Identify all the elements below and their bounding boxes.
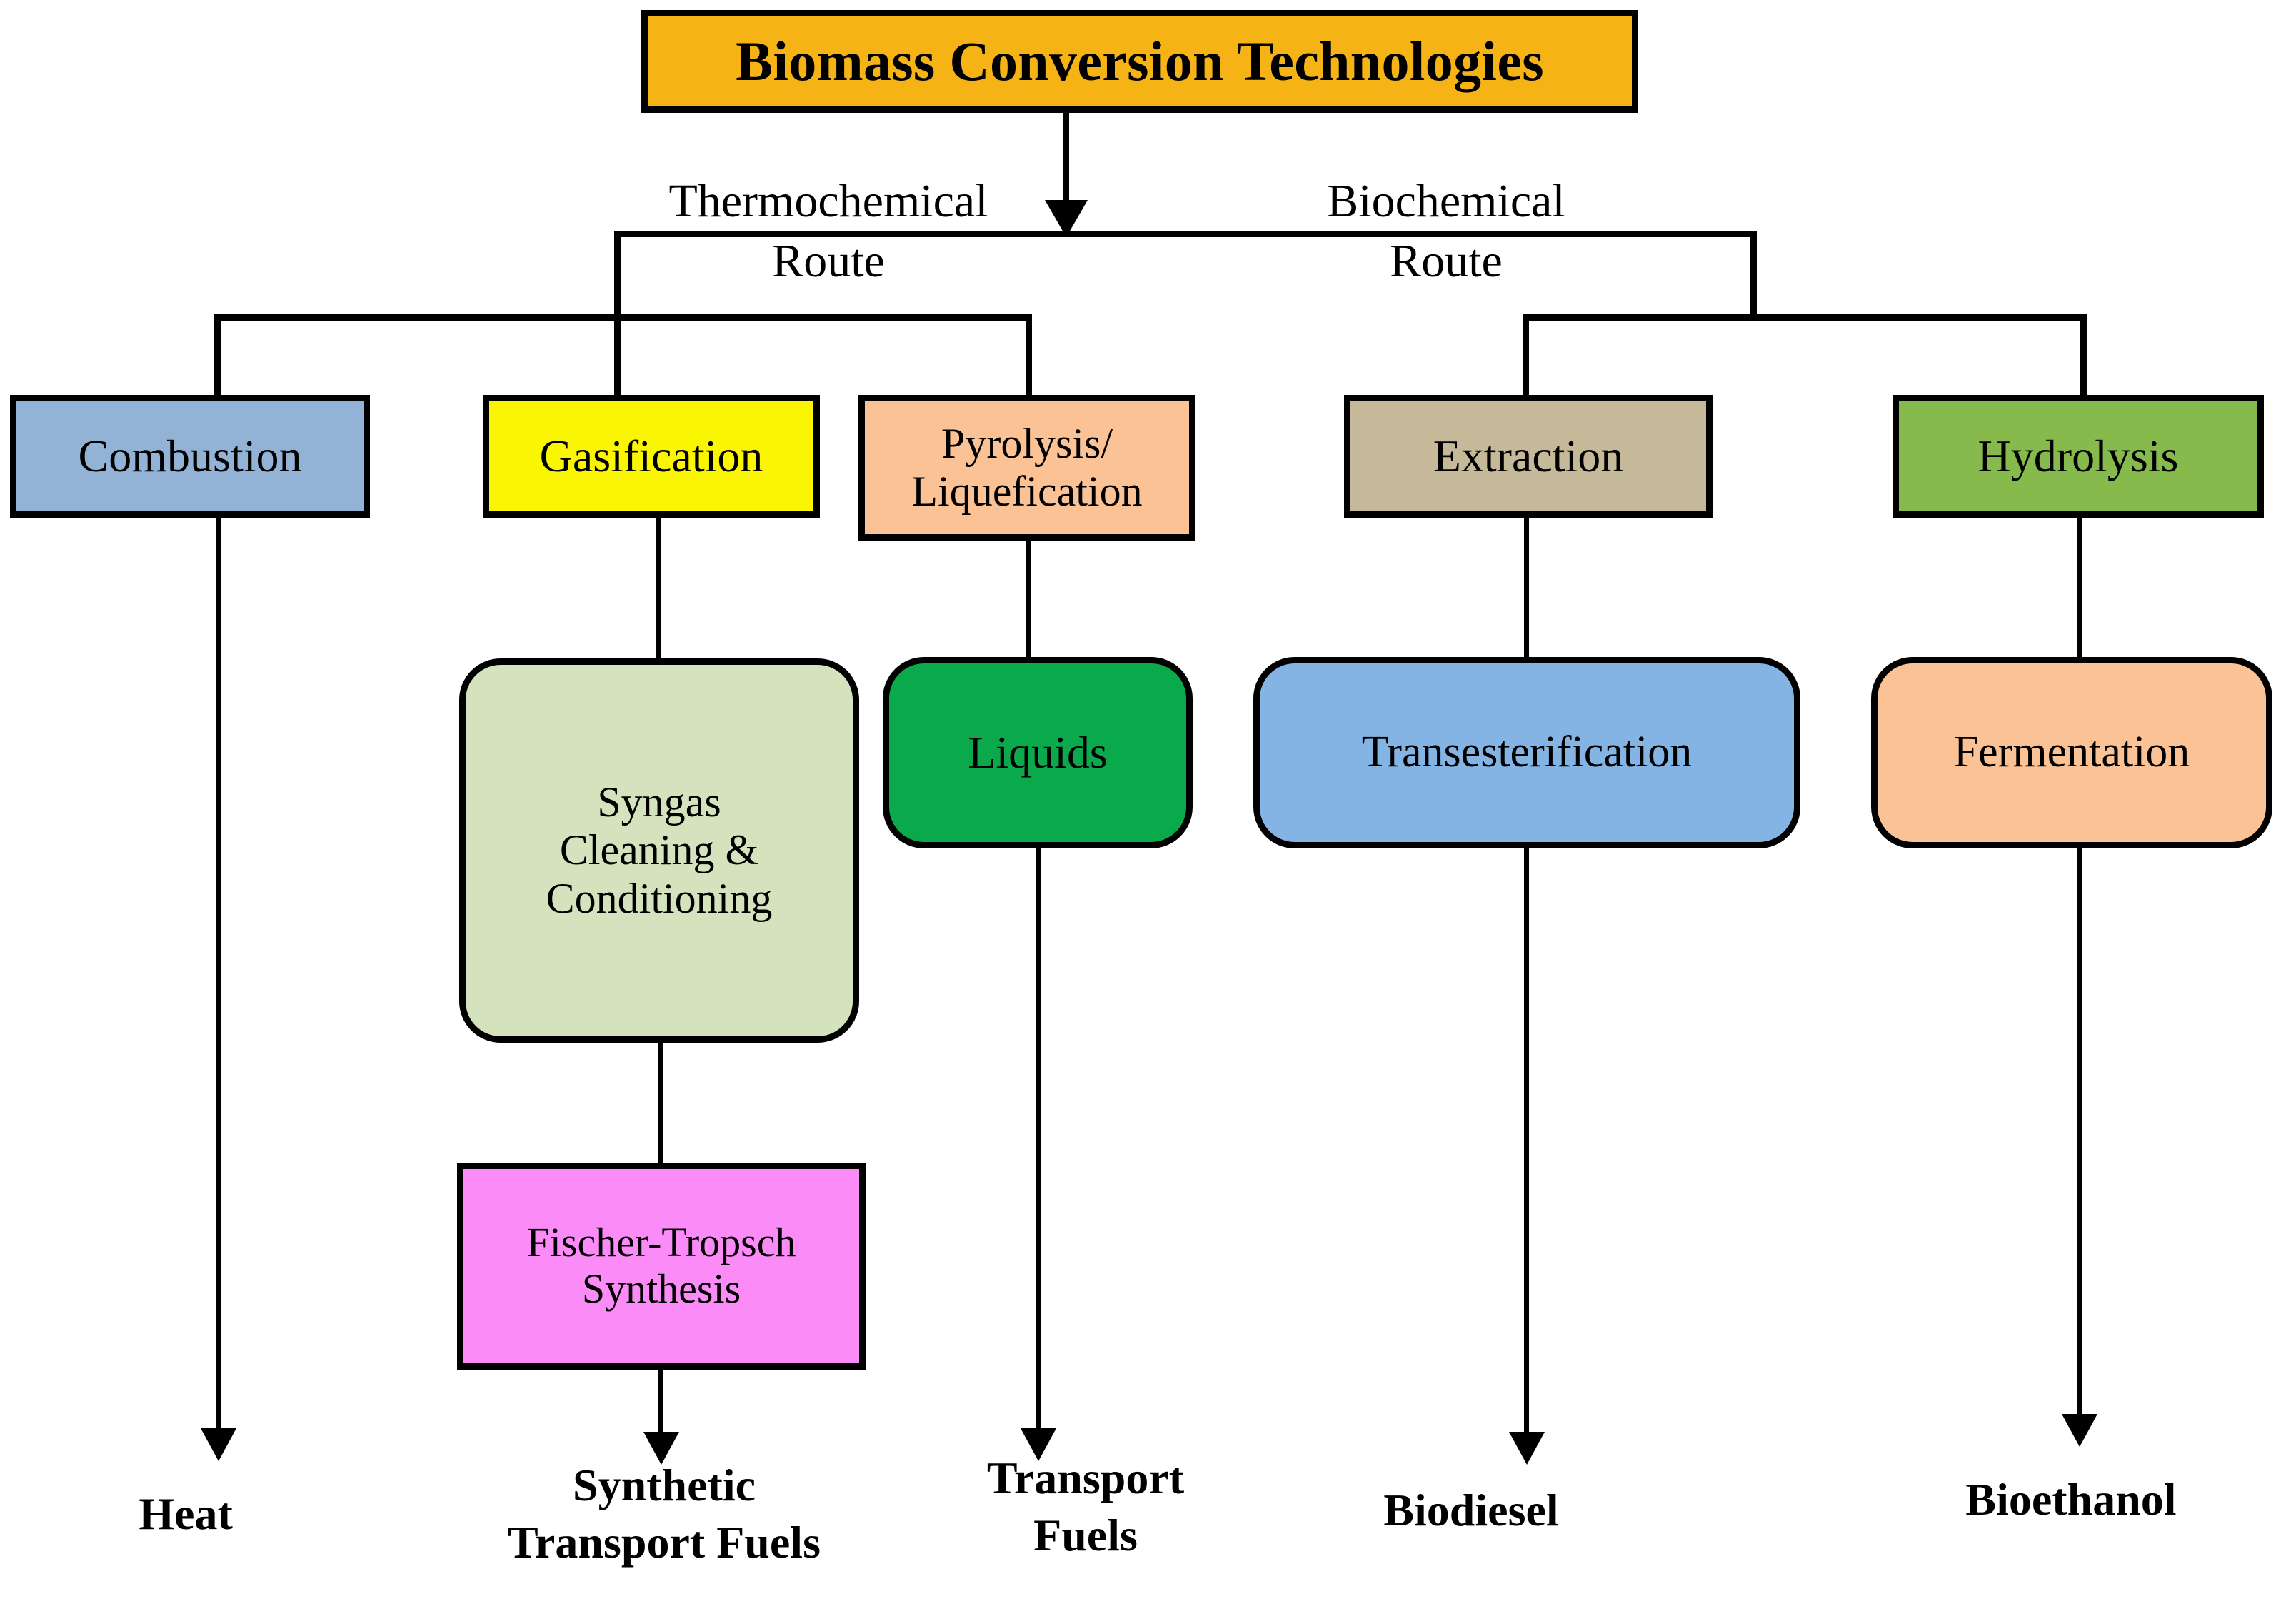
output-stf-line1: Synthetic <box>400 1457 928 1514</box>
arrowhead-bioethanol <box>2062 1414 2097 1447</box>
node-extraction-label: Extraction <box>1350 431 1706 482</box>
node-liquids-label: Liquids <box>889 727 1186 778</box>
node-hydrolysis-label: Hydrolysis <box>1899 431 2257 482</box>
node-pyrolysis-line2: Liquefication <box>911 468 1142 515</box>
connector-thermo-bar <box>214 314 1032 321</box>
node-liquids[interactable]: Liquids <box>883 657 1193 848</box>
connector-gasification-to-syngas <box>656 516 661 663</box>
output-label-transport-fuels: Transport Fuels <box>914 1450 1257 1564</box>
arrowhead-title-to-bar <box>1045 200 1088 237</box>
route-label-biochemical: Biochemical Route <box>1278 171 1614 292</box>
route-label-thermochemical: Thermochemical Route <box>643 171 1014 292</box>
output-label-biodiesel: Biodiesel <box>1285 1482 1657 1539</box>
node-fischer-tropsch-synthesis[interactable]: Fischer-Tropsch Synthesis <box>457 1163 866 1370</box>
connector-bio-bar <box>1523 314 2087 321</box>
connector-extraction-to-transesterification <box>1524 516 1529 663</box>
arrowhead-heat <box>201 1428 236 1461</box>
connector-to-pyrolysis <box>1026 314 1032 399</box>
connector-combustion-to-heat <box>216 516 221 1445</box>
output-bioethanol-text: Bioethanol <box>1965 1474 2176 1525</box>
connector-liquids-to-transport-fuels <box>1036 846 1041 1445</box>
connector-to-extraction <box>1523 314 1529 399</box>
route-biochemical-line1: Biochemical <box>1278 171 1614 231</box>
connector-fermentation-to-bioethanol <box>2077 846 2082 1431</box>
node-transesterification-label: Transesterification <box>1260 728 1794 777</box>
node-pyrolysis-liquefication[interactable]: Pyrolysis/ Liquefication <box>858 395 1195 541</box>
route-thermochemical-line1: Thermochemical <box>643 171 1014 231</box>
connector-pyrolysis-to-liquids <box>1026 539 1031 662</box>
node-combustion-label: Combustion <box>16 431 364 482</box>
connector-to-hydrolysis <box>2080 314 2087 399</box>
connector-bio-trunk <box>1750 231 1757 320</box>
output-stf-line2: Transport Fuels <box>400 1514 928 1571</box>
node-syngas-line3: Conditioning <box>546 875 773 922</box>
page-title: Biomass Conversion Technologies <box>648 30 1632 92</box>
node-fischer-line2: Synthesis <box>582 1265 741 1312</box>
output-label-heat: Heat <box>50 1485 321 1543</box>
output-heat-text: Heat <box>139 1488 233 1539</box>
connector-syngas-to-fischer <box>658 1040 663 1167</box>
node-syngas-cleaning-conditioning[interactable]: Syngas Cleaning & Conditioning <box>459 658 859 1043</box>
flowchart-canvas: Biomass Conversion Technologies Thermoch… <box>0 0 2296 1604</box>
node-gasification[interactable]: Gasification <box>483 395 820 518</box>
output-label-bioethanol: Bioethanol <box>1835 1471 2296 1528</box>
node-fermentation-label: Fermentation <box>1878 728 2266 777</box>
connector-hydrolysis-to-fermentation <box>2077 516 2082 663</box>
connector-to-gasification <box>614 314 621 399</box>
output-tf-line2: Fuels <box>914 1507 1257 1564</box>
route-thermochemical-line2: Route <box>643 231 1014 291</box>
arrowhead-biodiesel <box>1509 1432 1545 1465</box>
route-biochemical-line2: Route <box>1278 231 1614 291</box>
node-transesterification[interactable]: Transesterification <box>1253 657 1800 848</box>
node-pyrolysis-line1: Pyrolysis/ <box>941 420 1113 467</box>
output-label-synthetic-transport-fuels: Synthetic Transport Fuels <box>400 1457 928 1571</box>
connector-thermo-trunk <box>614 231 621 320</box>
connector-transesterification-to-biodiesel <box>1524 846 1529 1449</box>
node-extraction[interactable]: Extraction <box>1344 395 1713 518</box>
connector-to-combustion <box>214 314 221 399</box>
title-box: Biomass Conversion Technologies <box>641 10 1638 113</box>
node-fermentation[interactable]: Fermentation <box>1871 657 2272 848</box>
output-tf-line1: Transport <box>914 1450 1257 1507</box>
node-fischer-line1: Fischer-Tropsch <box>527 1219 796 1265</box>
node-syngas-line2: Cleaning & <box>560 826 758 873</box>
output-biodiesel-text: Biodiesel <box>1383 1485 1558 1535</box>
node-combustion[interactable]: Combustion <box>10 395 370 518</box>
node-gasification-label: Gasification <box>489 431 813 482</box>
node-hydrolysis[interactable]: Hydrolysis <box>1893 395 2264 518</box>
node-syngas-line1: Syngas <box>597 778 721 826</box>
